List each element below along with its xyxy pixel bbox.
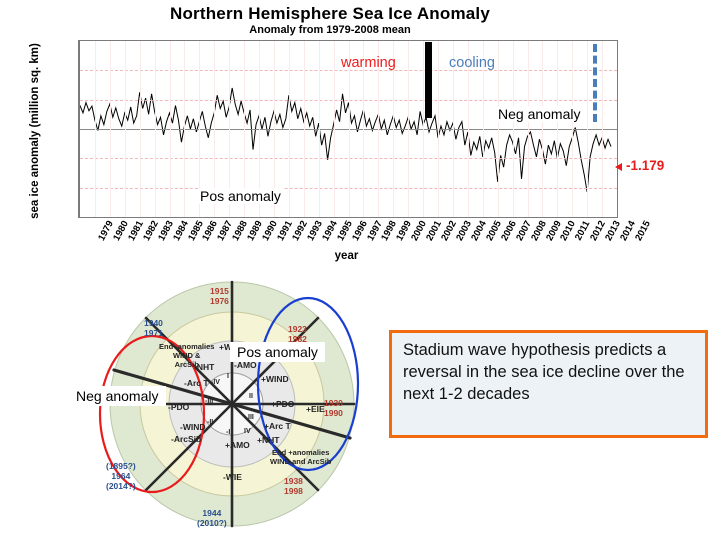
wheel-numeral-II: II bbox=[249, 393, 253, 400]
x-gridline bbox=[95, 41, 96, 217]
x-axis-label: year bbox=[78, 250, 615, 262]
y-tick-mark bbox=[617, 129, 618, 130]
x-gridline bbox=[140, 41, 141, 217]
y-tick-mark bbox=[617, 70, 618, 71]
wheel-end-pos-anomalies-text: End +anomalies WIND and ArcSib bbox=[270, 448, 331, 466]
wheel-numeral-neg-I: -I bbox=[226, 429, 230, 436]
wheel-label-minus-arcsib: -ArcSib bbox=[171, 434, 201, 444]
wheel-numeral-neg-II: -II bbox=[207, 419, 213, 426]
y-tick-mark bbox=[617, 217, 618, 218]
end-value-label: -1.179 bbox=[626, 158, 664, 173]
wheel-numeral-IV: IV bbox=[244, 428, 251, 435]
wheel-numeral-neg-IV: -IV bbox=[211, 379, 220, 386]
wheel-end-neg-anomalies-text: End -anomalies WIND & ArcSib bbox=[159, 342, 214, 369]
wheel-label-plus-arct: +Arc T bbox=[264, 421, 291, 431]
transition-marker-bar bbox=[425, 42, 432, 118]
blue-dashed-marker bbox=[593, 44, 597, 122]
wheel-label-plus-nht: +NHT bbox=[257, 435, 279, 445]
x-gridline bbox=[587, 41, 588, 217]
x-gridline bbox=[304, 41, 305, 217]
callout-pos-anomaly: Pos anomaly bbox=[230, 342, 325, 362]
wheel-years-upper-right: 19231982 bbox=[288, 324, 307, 344]
wheel-years-top: 19151976 bbox=[210, 286, 229, 306]
y-tick-mark bbox=[78, 158, 80, 159]
y-tick-mark bbox=[78, 129, 80, 130]
y-tick-mark bbox=[617, 100, 618, 101]
stadium-wave-diagram: I II III IV -I -II -III -IV +WIE -AMO -N… bbox=[84, 276, 384, 538]
x-tick-label: 1979 bbox=[96, 219, 116, 243]
y-tick-mark bbox=[78, 70, 80, 71]
wheel-years-lower-right: 19381998 bbox=[284, 476, 303, 496]
x-gridline bbox=[170, 41, 171, 217]
wheel-label-minus-arct: -Arc T bbox=[184, 378, 209, 388]
x-gridline bbox=[498, 41, 499, 217]
x-gridline bbox=[155, 41, 156, 217]
annotation-warming: warming bbox=[341, 55, 396, 71]
callout-neg-anomaly: Neg anomaly bbox=[69, 386, 166, 406]
x-gridline bbox=[438, 41, 439, 217]
x-gridline bbox=[542, 41, 543, 217]
wheel-label-plus-wind: +WIND bbox=[261, 374, 289, 384]
sea-ice-anomaly-chart: Northern Hemisphere Sea Ice Anomaly Anom… bbox=[0, 0, 720, 270]
wheel-label-minus-wind: -WIND bbox=[180, 422, 206, 432]
annotation-pos-anomaly: Pos anomaly bbox=[198, 188, 283, 204]
y-tick-mark bbox=[78, 217, 80, 218]
wheel-numeral-I: I bbox=[227, 373, 229, 380]
wheel-years-lower-left: (1895?)1964(2014?) bbox=[106, 461, 136, 491]
x-gridline bbox=[184, 41, 185, 217]
y-tick-mark bbox=[78, 188, 80, 189]
y-tick-mark bbox=[78, 100, 80, 101]
wheel-label-plus-eie: +EIE bbox=[306, 404, 325, 414]
wheel-years-bottom: 1944(2010?) bbox=[197, 508, 227, 528]
wheel-label-plus-amo: +AMO bbox=[225, 440, 250, 450]
x-gridline bbox=[125, 41, 126, 217]
end-value-arrow-icon bbox=[615, 163, 622, 171]
x-gridline bbox=[423, 41, 424, 217]
wheel-label-minus-wie: -WIE bbox=[223, 472, 242, 482]
wheel-label-minus-pdo: -PDO bbox=[168, 402, 189, 412]
annotation-cooling: cooling bbox=[449, 55, 495, 71]
x-gridline bbox=[528, 41, 529, 217]
hypothesis-textbox: Stadium wave hypothesis predicts a rever… bbox=[389, 330, 708, 438]
x-gridline bbox=[513, 41, 514, 217]
x-gridline bbox=[289, 41, 290, 217]
annotation-neg-anomaly: Neg anomaly bbox=[496, 106, 583, 122]
chart-subtitle: Anomaly from 1979-2008 mean bbox=[0, 24, 660, 36]
wheel-label-plus-pdo: +PDO bbox=[271, 399, 294, 409]
chart-title: Northern Hemisphere Sea Ice Anomaly bbox=[0, 4, 660, 24]
x-gridline bbox=[572, 41, 573, 217]
y-axis-label: sea ice anomaly (million sq. km) bbox=[29, 41, 41, 221]
wheel-years-upper-left: 19401971 bbox=[144, 318, 163, 338]
x-gridline bbox=[110, 41, 111, 217]
wheel-numeral-neg-III: -III bbox=[205, 398, 213, 405]
x-gridline bbox=[557, 41, 558, 217]
x-gridline bbox=[334, 41, 335, 217]
x-gridline bbox=[319, 41, 320, 217]
x-gridline bbox=[408, 41, 409, 217]
y-tick-mark bbox=[617, 188, 618, 189]
y-tick-mark bbox=[617, 158, 618, 159]
wheel-years-right: 19301990 bbox=[324, 398, 343, 418]
wheel-numeral-III: III bbox=[248, 414, 254, 421]
x-gridline bbox=[617, 41, 618, 217]
x-gridline bbox=[602, 41, 603, 217]
